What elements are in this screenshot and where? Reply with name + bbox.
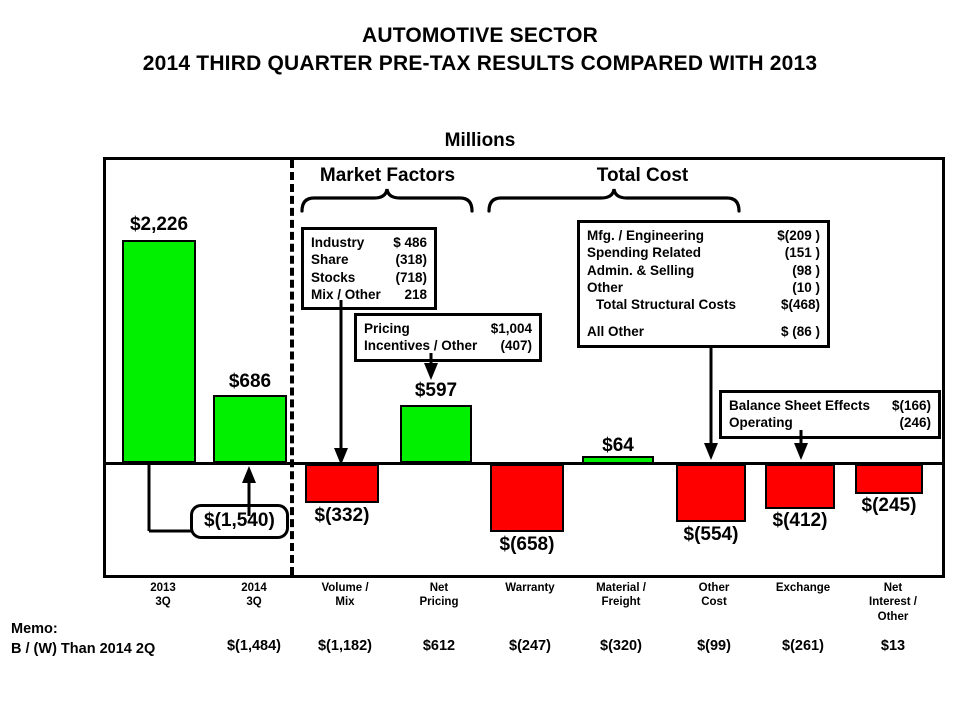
bar-2014-3q[interactable]	[213, 395, 287, 463]
bar-net-interest-other[interactable]	[855, 464, 923, 494]
annotation-box-exchange: Balance Sheet Effects $(166) Operating (…	[719, 390, 941, 439]
x-axis-label-line: Other	[668, 581, 760, 595]
annotation-label: Industry	[311, 234, 378, 251]
memo-value-net-pricing: $612	[393, 638, 485, 654]
x-axis-label-line: 2014	[208, 581, 300, 595]
bar-warranty[interactable]	[490, 464, 564, 532]
x-axis-label-line: Other	[847, 610, 939, 624]
memo-heading: Memo:	[11, 620, 155, 640]
memo-value-net-interest-other: $13	[847, 638, 939, 654]
x-axis-label-2014-3q: 2014 3Q	[208, 581, 300, 610]
annotation-label: Total Structural Costs	[587, 296, 750, 313]
annotation-label: Other	[587, 279, 637, 296]
bar-label-net-interest-other: $(245)	[839, 495, 939, 517]
bar-label-exchange: $(412)	[750, 510, 850, 532]
annotation-label: Incentives / Other	[364, 337, 491, 354]
annotation-label: Mfg. / Engineering	[587, 227, 718, 244]
x-axis-label-net-pricing: Net Pricing	[393, 581, 485, 610]
units-label: Millions	[0, 130, 960, 152]
annotation-value: (718)	[395, 269, 427, 286]
annotation-value: $(209 )	[777, 227, 820, 244]
bar-material-freight[interactable]	[582, 456, 654, 464]
annotation-value: (10 )	[792, 279, 820, 296]
x-axis-label-line: Interest /	[847, 595, 939, 609]
bar-net-pricing[interactable]	[400, 405, 472, 463]
annotation-box-market-factors: Industry $ 486 Share (318) Stocks (718) …	[301, 227, 437, 310]
annotation-spacer	[587, 313, 820, 323]
annotation-row: Stocks (718)	[311, 269, 427, 286]
bar-label-other-cost: $(554)	[661, 524, 761, 546]
bar-other-cost[interactable]	[676, 464, 746, 522]
annotation-label: Spending Related	[587, 244, 715, 261]
annotation-row: Mix / Other 218	[311, 286, 427, 303]
annotation-value: $ 486	[393, 234, 427, 251]
title-line-1: AUTOMOTIVE SECTOR	[0, 22, 960, 50]
annotation-label: Admin. & Selling	[587, 262, 708, 279]
bar-label-material-freight: $64	[568, 435, 668, 457]
annotation-value: (98 )	[792, 262, 820, 279]
x-axis-label-line: Pricing	[393, 595, 485, 609]
bar-volume-mix[interactable]	[305, 464, 379, 503]
bar-2013-3q[interactable]	[122, 240, 196, 463]
annotation-row: Admin. & Selling (98 )	[587, 262, 820, 279]
x-axis-label-line: Cost	[668, 595, 760, 609]
memo-value-volume-mix: $(1,182)	[299, 638, 391, 654]
x-axis-label-net-interest-other: Net Interest / Other	[847, 581, 939, 624]
annotation-row: Mfg. / Engineering $(209 )	[587, 227, 820, 244]
annotation-value: $(166)	[892, 397, 931, 414]
x-axis-label-line: 3Q	[117, 595, 209, 609]
x-axis-label-line: Freight	[575, 595, 667, 609]
annotation-row: All Other $ (86 )	[587, 323, 820, 340]
chart-page: AUTOMOTIVE SECTOR 2014 THIRD QUARTER PRE…	[0, 0, 960, 720]
bar-label-volume-mix: $(332)	[292, 505, 392, 527]
x-axis-label-line: Exchange	[757, 581, 849, 595]
bar-label-warranty: $(658)	[477, 534, 577, 556]
group-heading-market-factors: Market Factors	[300, 165, 475, 187]
memo-values-row: $(1,484) $(1,182) $612 $(247) $(320) $(9…	[103, 638, 945, 664]
annotation-row: Pricing $1,004	[364, 320, 532, 337]
x-axis-labels: 2013 3Q 2014 3Q Volume / Mix Net Pricing…	[103, 581, 945, 641]
annotation-label: Balance Sheet Effects	[729, 397, 884, 414]
x-axis-label-volume-mix: Volume / Mix	[299, 581, 391, 610]
x-axis-label-line: 3Q	[208, 595, 300, 609]
annotation-row: Industry $ 486	[311, 234, 427, 251]
annotation-value: $ (86 )	[781, 323, 820, 340]
annotation-label: Operating	[729, 414, 807, 431]
x-axis-label-line: Net	[393, 581, 485, 595]
annotation-row: Share (318)	[311, 251, 427, 268]
x-axis-label-2013-3q: 2013 3Q	[117, 581, 209, 610]
x-axis-label-other-cost: Other Cost	[668, 581, 760, 610]
x-axis-label-line: Net	[847, 581, 939, 595]
memo-value-warranty: $(247)	[484, 638, 576, 654]
x-axis-label-line: Volume /	[299, 581, 391, 595]
annotation-row: Other (10 )	[587, 279, 820, 296]
callout-total-change: $(1,540)	[190, 504, 289, 539]
x-axis-label-line: 2013	[117, 581, 209, 595]
memo-value-2014-3q: $(1,484)	[208, 638, 300, 654]
memo-value-material-freight: $(320)	[575, 638, 667, 654]
x-axis-label-line: Material /	[575, 581, 667, 595]
annotation-row: Operating (246)	[729, 414, 931, 431]
memo-value-other-cost: $(99)	[668, 638, 760, 654]
x-axis-label-line: Warranty	[484, 581, 576, 595]
annotation-row: Incentives / Other (407)	[364, 337, 532, 354]
bar-exchange[interactable]	[765, 464, 835, 509]
annotation-label: Share	[311, 251, 363, 268]
annotation-value: (318)	[395, 251, 427, 268]
x-axis-label-material-freight: Material / Freight	[575, 581, 667, 610]
memo-value-exchange: $(261)	[757, 638, 849, 654]
annotation-value: (151 )	[785, 244, 820, 261]
annotation-label: Mix / Other	[311, 286, 395, 303]
bar-label-2013-3q: $2,226	[109, 214, 209, 236]
annotation-value: 218	[404, 286, 427, 303]
annotation-value: $(468)	[781, 296, 820, 313]
x-axis-label-warranty: Warranty	[484, 581, 576, 595]
bar-label-2014-3q: $686	[200, 371, 300, 393]
bar-label-net-pricing: $597	[386, 380, 486, 402]
annotation-box-pricing: Pricing $1,004 Incentives / Other (407)	[354, 313, 542, 362]
group-heading-total-cost: Total Cost	[555, 165, 730, 187]
x-axis-label-exchange: Exchange	[757, 581, 849, 595]
title-line-2: 2014 THIRD QUARTER PRE-TAX RESULTS COMPA…	[0, 50, 960, 78]
annotation-label: All Other	[587, 323, 658, 340]
annotation-value: (246)	[899, 414, 931, 431]
annotation-row: Spending Related (151 )	[587, 244, 820, 261]
annotation-box-total-cost: Mfg. / Engineering $(209 ) Spending Rela…	[577, 220, 830, 348]
annotation-label: Pricing	[364, 320, 424, 337]
annotation-row: Balance Sheet Effects $(166)	[729, 397, 931, 414]
annotation-row-subtotal: Total Structural Costs $(468)	[587, 296, 820, 313]
annotation-value: $1,004	[491, 320, 532, 337]
page-title: AUTOMOTIVE SECTOR 2014 THIRD QUARTER PRE…	[0, 22, 960, 79]
annotation-value: (407)	[500, 337, 532, 354]
x-axis-label-line: Mix	[299, 595, 391, 609]
annotation-label: Stocks	[311, 269, 369, 286]
